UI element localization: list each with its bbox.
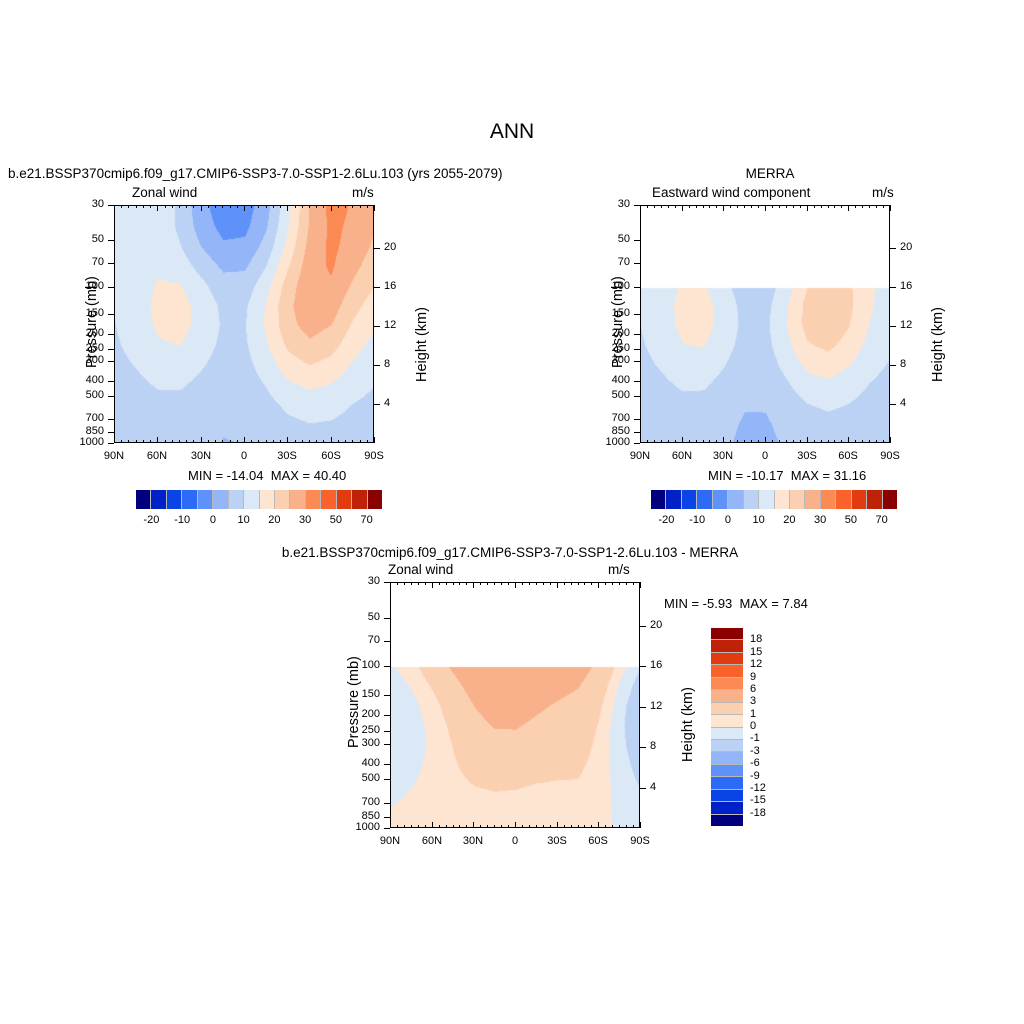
colorbar-tick-label: 70 (349, 514, 385, 526)
lat-minor-tick (654, 440, 655, 443)
pressure-tick-label: 30 (344, 575, 380, 587)
lat-minor-tick (814, 205, 815, 208)
pressure-tick (384, 666, 390, 667)
lat-minor-tick (128, 205, 129, 208)
colorbar-swatch (367, 490, 382, 509)
colorbar-swatch (711, 689, 743, 701)
colorbar-tick-label: 1 (750, 708, 756, 720)
pressure-tick-label: 250 (68, 342, 104, 354)
colorbar-swatch (711, 739, 743, 751)
pressure-tick (108, 240, 114, 241)
lat-minor-tick (487, 825, 488, 828)
left-panel-case-label: b.e21.BSSP370cmip6.f09_g17.CMIP6-SSP3-7.… (8, 166, 503, 181)
lat-minor-tick (143, 205, 144, 208)
lat-minor-tick (352, 205, 353, 208)
lat-minor-tick (758, 205, 759, 208)
lat-minor-tick (841, 205, 842, 208)
lat-minor-tick (598, 582, 599, 588)
lat-minor-tick (772, 440, 773, 443)
lat-minor-tick (273, 205, 274, 208)
height-tick (640, 747, 646, 748)
lat-tick-label: 60N (662, 450, 702, 462)
lat-minor-tick (258, 440, 259, 443)
lat-tick-label: 90N (620, 450, 660, 462)
lat-minor-tick (374, 437, 375, 443)
colorbar-swatch (711, 652, 743, 664)
lat-minor-tick (302, 440, 303, 443)
lat-minor-tick (876, 440, 877, 443)
colorbar-swatch (711, 639, 743, 651)
pressure-tick (108, 263, 114, 264)
colorbar-swatch (866, 490, 881, 509)
lat-minor-tick (473, 822, 474, 828)
lat-tick-label: 60N (412, 835, 452, 847)
colorbar-swatch (136, 490, 150, 509)
lat-tick-label: 60N (137, 450, 177, 462)
lat-minor-tick (689, 205, 690, 208)
height-tick-label: 8 (900, 358, 928, 370)
lat-minor-tick (800, 205, 801, 208)
lat-minor-tick (619, 825, 620, 828)
colorbar-swatch (289, 490, 304, 509)
lat-minor-tick (640, 582, 641, 588)
lat-minor-tick (251, 205, 252, 208)
lat-minor-tick (501, 582, 502, 585)
lat-minor-tick (501, 825, 502, 828)
lat-minor-tick (287, 205, 288, 211)
lat-minor-tick (647, 205, 648, 208)
lat-tick-label: 60S (828, 450, 868, 462)
lat-minor-tick (619, 582, 620, 585)
colorbar-swatch (259, 490, 274, 509)
lat-minor-tick (828, 440, 829, 443)
height-tick (640, 666, 646, 667)
pressure-tick (634, 361, 640, 362)
colorbar-swatch (804, 490, 819, 509)
lat-tick-label: 0 (224, 450, 264, 462)
lat-minor-tick (640, 205, 641, 211)
height-tick (640, 626, 646, 627)
colorbar-swatch (711, 814, 743, 826)
pressure-tick (634, 419, 640, 420)
pressure-tick-label: 1000 (68, 436, 104, 448)
lat-tick-label: 90S (354, 450, 394, 462)
lat-minor-tick (834, 440, 835, 443)
lat-minor-tick (157, 205, 158, 211)
lat-minor-tick (703, 440, 704, 443)
height-tick (640, 707, 646, 708)
lat-minor-tick (453, 825, 454, 828)
lat-minor-tick (352, 440, 353, 443)
pressure-tick (634, 240, 640, 241)
height-tick-label: 4 (900, 397, 928, 409)
pressure-tick (634, 381, 640, 382)
lat-minor-tick (331, 437, 332, 443)
pressure-tick-label: 200 (68, 327, 104, 339)
lat-minor-tick (266, 440, 267, 443)
lat-minor-tick (522, 582, 523, 585)
pressure-tick-label: 70 (344, 634, 380, 646)
height-tick (374, 365, 380, 366)
pressure-tick (384, 779, 390, 780)
colorbar-tick-label: -12 (750, 782, 766, 794)
pressure-tick (384, 764, 390, 765)
lat-minor-tick (862, 440, 863, 443)
lat-minor-tick (128, 440, 129, 443)
colorbar-swatch (651, 490, 665, 509)
lat-tick-label: 60S (311, 450, 351, 462)
height-tick-label: 12 (384, 319, 412, 331)
colorbar-tick-label: -9 (750, 770, 760, 782)
colorbar-swatch (758, 490, 773, 509)
lat-minor-tick (529, 582, 530, 585)
lat-minor-tick (703, 205, 704, 208)
lat-minor-tick (244, 205, 245, 211)
lat-minor-tick (605, 582, 606, 585)
lat-minor-tick (682, 437, 683, 443)
pressure-tick (384, 715, 390, 716)
colorbar-swatch (696, 490, 711, 509)
lat-minor-tick (404, 582, 405, 585)
pressure-tick (384, 744, 390, 745)
height-tick-label: 8 (384, 358, 412, 370)
lat-minor-tick (862, 205, 863, 208)
height-tick (890, 248, 896, 249)
pressure-tick (108, 349, 114, 350)
lat-minor-tick (578, 825, 579, 828)
lat-minor-tick (654, 205, 655, 208)
lat-minor-tick (157, 437, 158, 443)
colorbar-swatch (166, 490, 181, 509)
colorbar-swatch (711, 677, 743, 689)
colorbar-swatch (711, 751, 743, 763)
colorbar-tick-label: -6 (750, 757, 760, 769)
lat-minor-tick (848, 205, 849, 211)
lat-minor-tick (647, 440, 648, 443)
lat-tick-label: 90N (94, 450, 134, 462)
pressure-tick (634, 432, 640, 433)
pressure-tick (634, 443, 640, 444)
height-tick (890, 404, 896, 405)
lat-minor-tick (136, 440, 137, 443)
pressure-tick (108, 314, 114, 315)
lat-minor-tick (876, 205, 877, 208)
lat-minor-tick (807, 205, 808, 211)
lat-minor-tick (640, 822, 641, 828)
lat-minor-tick (331, 205, 332, 211)
height-tick (890, 326, 896, 327)
lat-tick-label: 90S (870, 450, 910, 462)
lat-minor-tick (425, 582, 426, 585)
lat-minor-tick (480, 582, 481, 585)
colorbar-swatch (882, 490, 897, 509)
lat-tick-label: 30N (181, 450, 221, 462)
lat-minor-tick (309, 205, 310, 208)
pressure-tick (384, 618, 390, 619)
height-tick-label: 20 (384, 241, 412, 253)
height-tick (890, 365, 896, 366)
right-panel-case-label: MERRA (640, 166, 900, 181)
lat-minor-tick (855, 440, 856, 443)
pressure-tick-label: 1000 (594, 436, 630, 448)
right-contour-plot[interactable] (640, 205, 890, 443)
pressure-tick (108, 432, 114, 433)
diff-colorbar[interactable] (711, 628, 743, 826)
pressure-tick-label: 70 (594, 256, 630, 268)
height-tick (890, 287, 896, 288)
lat-minor-tick (626, 825, 627, 828)
lat-minor-tick (201, 437, 202, 443)
lat-minor-tick (550, 825, 551, 828)
lat-minor-tick (765, 437, 766, 443)
height-tick-label: 16 (384, 280, 412, 292)
right-panel-stats: MIN = -10.17 MAX = 31.16 (708, 468, 866, 483)
lat-minor-tick (821, 205, 822, 208)
colorbar-swatch (835, 490, 850, 509)
lat-minor-tick (425, 825, 426, 828)
lat-minor-tick (737, 440, 738, 443)
pressure-tick-label: 700 (344, 796, 380, 808)
lat-minor-tick (564, 582, 565, 585)
colorbar-swatch (820, 490, 835, 509)
pressure-tick-label: 250 (594, 342, 630, 354)
lat-minor-tick (345, 205, 346, 208)
lat-minor-tick (716, 205, 717, 208)
lat-minor-tick (215, 205, 216, 208)
lat-minor-tick (208, 440, 209, 443)
pressure-tick (634, 396, 640, 397)
right-height-axis-title: Height (km) (930, 307, 946, 382)
lat-minor-tick (201, 205, 202, 211)
colorbar-tick-label: -15 (750, 794, 766, 806)
lat-tick-label: 30S (537, 835, 577, 847)
colorbar-swatch (711, 628, 743, 639)
diff-panel-units-label: m/s (608, 562, 630, 577)
lat-minor-tick (668, 440, 669, 443)
lat-minor-tick (675, 440, 676, 443)
lat-minor-tick (193, 205, 194, 208)
lat-minor-tick (150, 205, 151, 208)
lat-minor-tick (508, 825, 509, 828)
lat-minor-tick (543, 582, 544, 585)
colorbar-swatch (743, 490, 758, 509)
pressure-tick (108, 419, 114, 420)
lat-minor-tick (494, 825, 495, 828)
lat-minor-tick (529, 825, 530, 828)
pressure-tick (634, 263, 640, 264)
lat-minor-tick (432, 822, 433, 828)
lat-minor-tick (404, 825, 405, 828)
pressure-tick-label: 200 (594, 327, 630, 339)
lat-minor-tick (367, 205, 368, 208)
colorbar-swatch (727, 490, 742, 509)
lat-tick-label: 30N (703, 450, 743, 462)
pressure-tick-label: 70 (68, 256, 104, 268)
diff-panel-stats: MIN = -5.93 MAX = 7.84 (664, 596, 808, 611)
pressure-tick-label: 150 (594, 307, 630, 319)
colorbar-swatch (774, 490, 789, 509)
left-max-label: MAX = 40.40 (271, 468, 347, 483)
lat-minor-tick (696, 440, 697, 443)
colorbar-tick-label: 15 (750, 646, 762, 658)
lat-tick-label: 30S (267, 450, 307, 462)
lat-minor-tick (466, 582, 467, 585)
lat-minor-tick (411, 825, 412, 828)
colorbar-tick-label: -1 (750, 732, 760, 744)
lat-minor-tick (564, 825, 565, 828)
pressure-tick-label: 100 (594, 280, 630, 292)
lat-minor-tick (584, 825, 585, 828)
lat-minor-tick (439, 825, 440, 828)
lat-tick-label: 30S (787, 450, 827, 462)
lat-minor-tick (730, 440, 731, 443)
lat-minor-tick (814, 440, 815, 443)
lat-tick-label: 0 (495, 835, 535, 847)
pressure-tick-label: 200 (344, 708, 380, 720)
height-tick-label: 20 (650, 619, 678, 631)
lat-minor-tick (730, 205, 731, 208)
lat-minor-tick (316, 440, 317, 443)
pressure-tick-label: 500 (68, 389, 104, 401)
lat-minor-tick (143, 440, 144, 443)
colorbar-tick-label: -3 (750, 745, 760, 757)
lat-minor-tick (709, 205, 710, 208)
lat-minor-tick (723, 437, 724, 443)
lat-minor-tick (244, 437, 245, 443)
pressure-tick (108, 396, 114, 397)
pressure-tick (634, 314, 640, 315)
lat-minor-tick (186, 205, 187, 208)
lat-minor-tick (411, 582, 412, 585)
lat-minor-tick (418, 582, 419, 585)
lat-minor-tick (487, 582, 488, 585)
lat-minor-tick (302, 205, 303, 208)
height-tick (374, 287, 380, 288)
colorbar-swatch (711, 727, 743, 739)
lat-minor-tick (675, 205, 676, 208)
lat-minor-tick (222, 205, 223, 208)
colorbar-swatch (789, 490, 804, 509)
diff-min-label: MIN = -5.93 (664, 596, 732, 611)
lat-minor-tick (494, 582, 495, 585)
pressure-tick-label: 250 (344, 724, 380, 736)
height-tick (640, 788, 646, 789)
lat-minor-tick (165, 440, 166, 443)
lat-minor-tick (682, 205, 683, 211)
lat-minor-tick (432, 582, 433, 588)
pressure-tick-label: 50 (594, 233, 630, 245)
pressure-tick-label: 30 (68, 198, 104, 210)
lat-minor-tick (508, 582, 509, 585)
lat-minor-tick (150, 440, 151, 443)
lat-minor-tick (661, 205, 662, 208)
left-panel-stats: MIN = -14.04 MAX = 40.40 (188, 468, 346, 483)
colorbar-swatch (320, 490, 335, 509)
lat-minor-tick (612, 825, 613, 828)
pressure-tick-label: 500 (344, 772, 380, 784)
left-contour-plot[interactable] (114, 205, 374, 443)
lat-minor-tick (696, 205, 697, 208)
height-tick-label: 4 (384, 397, 412, 409)
colorbar-swatch (711, 664, 743, 676)
colorbar-swatch (711, 801, 743, 813)
colorbar-swatch (711, 702, 743, 714)
lat-minor-tick (439, 582, 440, 585)
pressure-tick-label: 50 (68, 233, 104, 245)
colorbar-swatch (712, 490, 727, 509)
lat-minor-tick (266, 205, 267, 208)
lat-minor-tick (345, 440, 346, 443)
lat-minor-tick (374, 205, 375, 211)
lat-minor-tick (807, 437, 808, 443)
left-colorbar[interactable] (136, 490, 382, 509)
colorbar-tick-label: 6 (750, 683, 756, 695)
lat-minor-tick (584, 582, 585, 585)
lat-minor-tick (316, 205, 317, 208)
height-tick-label: 12 (900, 319, 928, 331)
diff-contour-plot[interactable] (390, 582, 640, 828)
pressure-tick-label: 150 (344, 688, 380, 700)
lat-minor-tick (709, 440, 710, 443)
colorbar-swatch (228, 490, 243, 509)
page-title: ANN (0, 120, 1024, 144)
pressure-tick (634, 349, 640, 350)
pressure-tick (108, 381, 114, 382)
lat-minor-tick (598, 822, 599, 828)
lat-minor-tick (883, 440, 884, 443)
colorbar-tick-label: 12 (750, 658, 762, 670)
colorbar-swatch (274, 490, 289, 509)
lat-minor-tick (273, 440, 274, 443)
lat-minor-tick (661, 440, 662, 443)
pressure-tick-label: 50 (344, 611, 380, 623)
lat-minor-tick (360, 440, 361, 443)
diff-max-label: MAX = 7.84 (740, 596, 808, 611)
lat-minor-tick (786, 205, 787, 208)
lat-minor-tick (591, 825, 592, 828)
colorbar-swatch (212, 490, 227, 509)
lat-minor-tick (338, 205, 339, 208)
lat-minor-tick (633, 825, 634, 828)
right-max-label: MAX = 31.16 (791, 468, 867, 483)
lat-minor-tick (179, 205, 180, 208)
lat-minor-tick (779, 440, 780, 443)
lat-minor-tick (287, 437, 288, 443)
lat-minor-tick (848, 437, 849, 443)
lat-tick-label: 90N (370, 835, 410, 847)
colorbar-tick-label: 70 (864, 514, 900, 526)
lat-minor-tick (121, 440, 122, 443)
lat-minor-tick (390, 582, 391, 588)
pressure-tick (384, 641, 390, 642)
right-panel-variable-label: Eastward wind component (652, 185, 810, 200)
lat-minor-tick (515, 582, 516, 588)
lat-minor-tick (800, 440, 801, 443)
pressure-tick (634, 287, 640, 288)
right-panel-units-label: m/s (872, 185, 894, 200)
lat-minor-tick (841, 440, 842, 443)
lat-tick-label: 90S (620, 835, 660, 847)
pressure-tick-label: 700 (68, 412, 104, 424)
lat-minor-tick (121, 205, 122, 208)
lat-minor-tick (309, 440, 310, 443)
lat-minor-tick (295, 440, 296, 443)
right-colorbar[interactable] (651, 490, 897, 509)
lat-tick-label: 60S (578, 835, 618, 847)
colorbar-swatch (711, 776, 743, 788)
lat-minor-tick (612, 582, 613, 585)
colorbar-tick-label: 9 (750, 671, 756, 683)
